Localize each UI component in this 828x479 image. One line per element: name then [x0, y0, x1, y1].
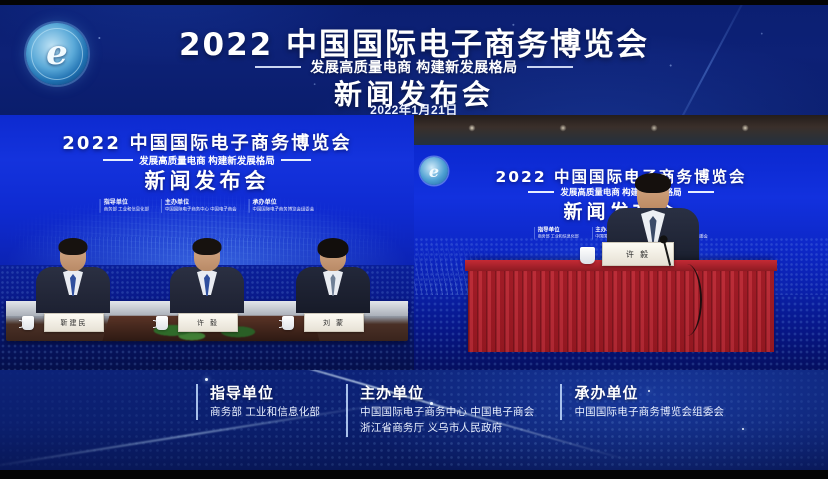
organizer-column-undertaker-title: 承办单位 [574, 384, 724, 404]
video-panel-right[interactable]: e 2022 中国国际电子商务博览会 发展高质量电商 构建新发展格局 新闻发布会… [414, 115, 828, 370]
panelist-1-body [36, 267, 110, 313]
panelist-2-head [194, 241, 220, 271]
right-ceiling [414, 115, 828, 145]
organizer-columns: 指导单位 商务部 工业和信息化部 主办单位 中国国际电子商务中心 中国电子商会 … [196, 384, 724, 437]
name-placard-3: 刘 蒙 [304, 313, 364, 332]
organizer-column-guiding-title: 指导单位 [210, 384, 320, 404]
left-backdrop-orgs: 指导单位 商务部 工业和信息化部 主办单位 中国国际电子商务中心 中国电子商会 … [93, 199, 321, 213]
teacup-2 [156, 316, 168, 330]
bottom-letterbox-bar [0, 470, 828, 479]
left-backdrop-org-2: 承办单位 中国国际电子商务博览会组委会 [249, 199, 314, 213]
left-backdrop-org-0: 指导单位 商务部 工业和信息化部 [100, 199, 149, 213]
organizer-column-host-line-1: 浙江省商务厅 义乌市人民政府 [360, 420, 534, 437]
organizer-column-undertaker: 承办单位 中国国际电子商务博览会组委会 [560, 384, 724, 420]
bottom-organizer-bar: 指导单位 商务部 工业和信息化部 主办单位 中国国际电子商务中心 中国电子商会 … [0, 370, 828, 470]
speaker-hair [635, 173, 671, 193]
panelist-2 [170, 241, 244, 313]
panelist-3-hair [318, 238, 349, 258]
panelist-1-hair [59, 238, 88, 255]
panelist-1-head [60, 241, 86, 271]
panelist-3-head [320, 241, 346, 271]
bottom-sparkle-4 [742, 428, 744, 430]
video-panel-left[interactable]: 2022 中国国际电子商务博览会 发展高质量电商 构建新发展格局 新闻发布会 指… [0, 115, 414, 370]
panelist-3-body [296, 267, 370, 313]
right-ceiling-lights [414, 121, 828, 135]
video-panels-region: 2022 中国国际电子商务博览会 发展高质量电商 构建新发展格局 新闻发布会 指… [0, 115, 828, 370]
microphone-cable [672, 264, 702, 336]
organizer-column-host: 主办单位 中国国际电子商务中心 中国电子商会 浙江省商务厅 义乌市人民政府 [346, 384, 534, 437]
organizer-column-host-line-0: 中国国际电子商务中心 中国电子商会 [360, 404, 534, 421]
panelist-3 [296, 241, 370, 313]
name-placard-2: 许 毅 [178, 313, 238, 332]
left-subtitle-rule-right [281, 159, 311, 161]
organizer-column-guiding-line-0: 商务部 工业和信息化部 [210, 404, 320, 421]
red-table-pleats [468, 271, 774, 352]
organizer-column-undertaker-line-0: 中国国际电子商务博览会组委会 [574, 404, 724, 421]
event-header-banner: e 2022 中国国际电子商务博览会 发展高质量电商 构建新发展格局 新闻发布会… [0, 5, 828, 115]
name-placard-1: 靳建民 [44, 313, 104, 332]
left-backdrop-org-2-lines: 中国国际电子商务博览会组委会 [253, 207, 315, 213]
red-skirted-table [468, 260, 774, 352]
left-backdrop-title: 2022 中国国际电子商务博览会 [0, 129, 414, 155]
left-backdrop-org-0-title: 指导单位 [104, 199, 149, 207]
speaker-teacup [580, 247, 595, 264]
left-backdrop-org-1: 主办单位 中国国际电子商务中心 中国电子商会 [161, 199, 236, 213]
organizer-column-host-title: 主办单位 [360, 384, 534, 404]
panelist-2-body [170, 267, 244, 313]
organizer-column-guiding: 指导单位 商务部 工业和信息化部 [196, 384, 320, 420]
left-backdrop-org-0-lines: 商务部 工业和信息化部 [104, 207, 149, 213]
left-backdrop-press-title: 新闻发布会 [0, 165, 414, 195]
teacup-1 [22, 316, 34, 330]
panelist-1 [36, 241, 110, 313]
panelist-2-hair [193, 238, 222, 255]
subtitle-rule-left [255, 66, 301, 68]
event-date: 2022年1月21日 [0, 101, 828, 115]
right-subtitle-rule-left [528, 191, 554, 192]
subtitle-rule-right [527, 66, 573, 68]
left-backdrop-org-2-title: 承办单位 [253, 199, 315, 207]
teacup-3 [282, 316, 294, 330]
left-subtitle-rule-left [103, 159, 133, 161]
left-backdrop-org-1-title: 主办单位 [165, 199, 237, 207]
screenshot-root: e 2022 中国国际电子商务博览会 发展高质量电商 构建新发展格局 新闻发布会… [0, 0, 828, 479]
bottom-sparkle-1 [205, 378, 208, 381]
left-backdrop-org-1-lines: 中国国际电子商务中心 中国电子商会 [165, 207, 237, 213]
